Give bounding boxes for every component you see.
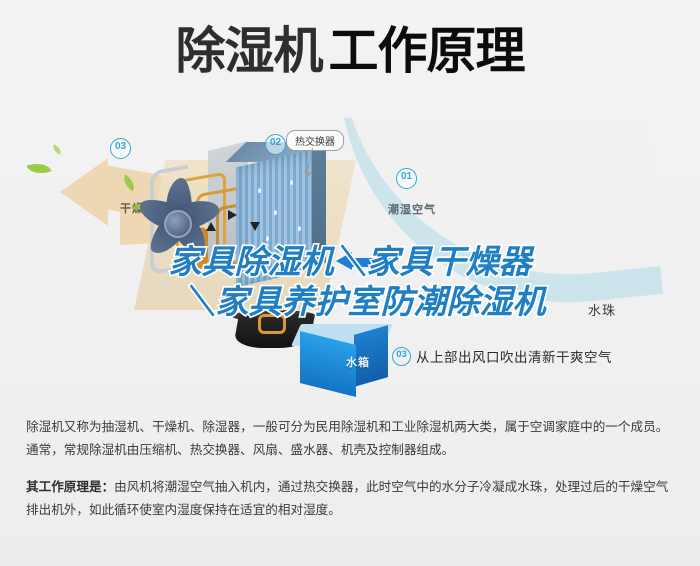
condensation-droplet: [266, 236, 269, 241]
body-text: 除湿机又称为抽湿机、干燥机、除湿器，一般可分为民用除湿机和工业除湿机两大类，属于…: [26, 416, 678, 536]
condensation-droplet: [282, 258, 285, 263]
step-badge-01: 01: [396, 168, 417, 189]
fan-icon: [128, 172, 224, 268]
inlet-arrow-tip: [336, 252, 352, 270]
page-title: 除湿机工作原理: [0, 26, 700, 76]
step-badge-02: 02: [265, 134, 286, 155]
body-paragraph-2-lead: 其工作原理是：: [26, 480, 114, 494]
page-title-part2: 工作原理: [329, 26, 525, 76]
step-03-caption-text: 从上部出风口吹出清新干爽空气: [416, 346, 612, 366]
heat-exchanger-fins: [236, 149, 318, 288]
step-03-caption: 03 从上部出风口吹出清新干爽空气: [392, 346, 612, 366]
condensation-droplet: [290, 180, 293, 185]
heat-exchanger-callout: 热交换器: [286, 130, 344, 151]
flow-arrow-down-icon: [250, 222, 260, 231]
dehumidifier-diagram: 干燥空气: [0, 118, 700, 400]
water-drops-label: 水珠: [588, 300, 616, 319]
page-title-part1: 除湿机: [176, 26, 323, 76]
humid-air-inlet-arrow: [336, 254, 394, 270]
step-badge-03: 03: [110, 138, 131, 159]
humid-air-label: 潮湿空气: [388, 201, 436, 217]
condensation-droplet: [274, 210, 277, 215]
poster-page: 除湿机工作原理 干燥空气: [0, 0, 700, 566]
flow-arrow-right-icon: [228, 210, 237, 220]
water-tank-label: 水箱: [346, 354, 370, 370]
heat-exchanger-side: [312, 146, 326, 265]
body-paragraph-1: 除湿机又称为抽湿机、干燥机、除湿器，一般可分为民用除湿机和工业除湿机两大类，属于…: [26, 416, 678, 462]
leaf-icon: [27, 159, 52, 178]
condensation-droplet: [298, 226, 301, 231]
basin-coil: [258, 314, 286, 334]
dry-air-arrow-head: [60, 158, 108, 226]
body-paragraph-2: 其工作原理是：由风机将潮湿空气抽入机内，通过热交换器，此时空气中的水分子冷凝成水…: [26, 476, 678, 522]
fan-hub: [164, 210, 192, 238]
body-paragraph-2-rest: 由风机将潮湿空气抽入机内，通过热交换器，此时空气中的水分子冷凝成水珠，处理过后的…: [26, 480, 668, 517]
step-03-caption-badge: 03: [392, 347, 411, 366]
water-tank: 水箱: [296, 324, 388, 384]
inlet-arrow-bar: [350, 258, 394, 267]
condensation-droplet: [258, 188, 261, 193]
